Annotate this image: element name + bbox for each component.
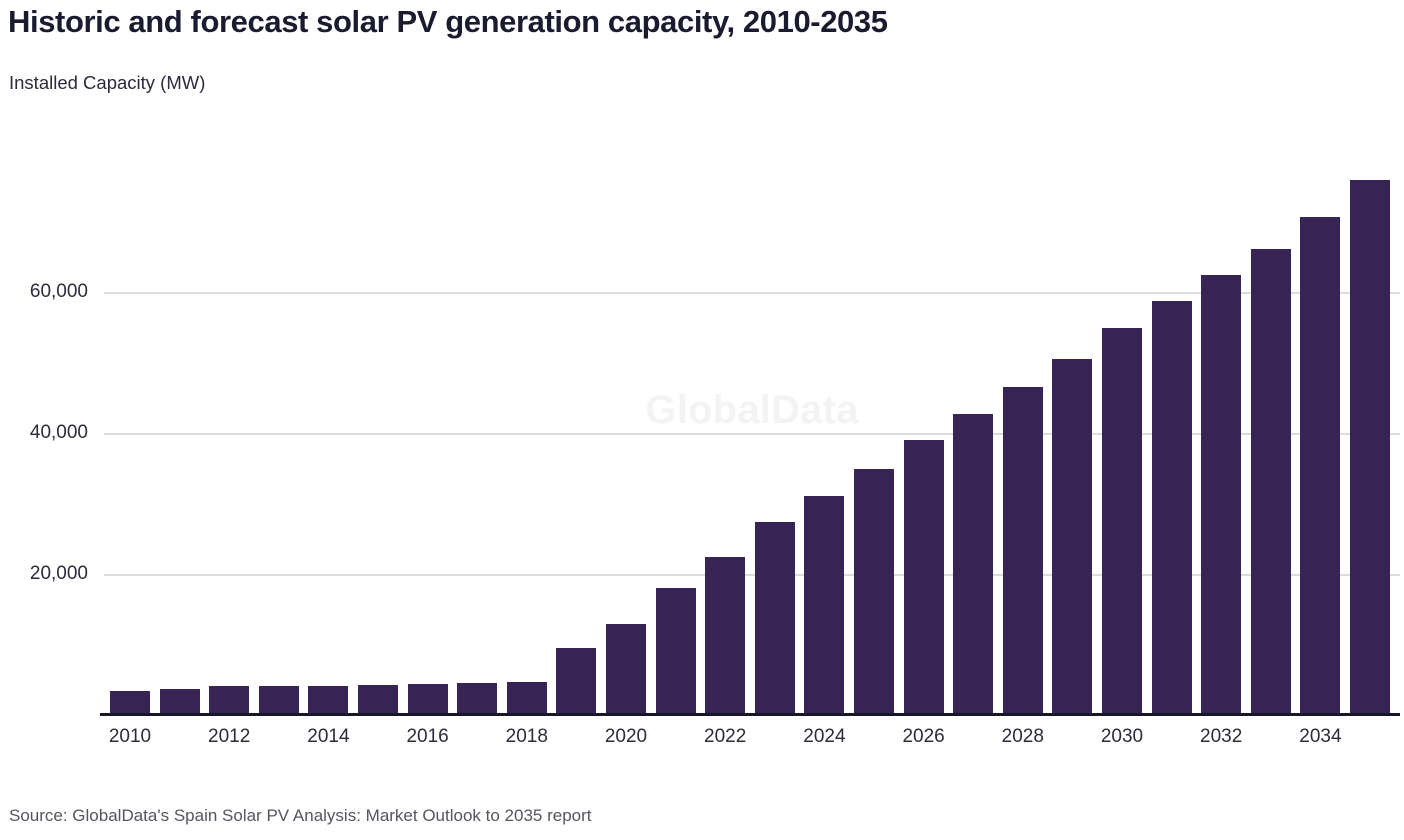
x-tick-label-2028: 2028 <box>1002 726 1044 748</box>
bar-2033[interactable] <box>1251 249 1291 716</box>
x-tick-label-2030: 2030 <box>1101 726 1143 748</box>
bar-2028[interactable] <box>1003 387 1043 716</box>
bar-2027[interactable] <box>953 414 993 716</box>
x-axis-line <box>100 713 1400 716</box>
chart-source: Source: GlobalData's Spain Solar PV Anal… <box>9 806 592 826</box>
x-axis-labels: 2010201220142016201820202022202420262028… <box>104 726 1404 760</box>
bar-2021[interactable] <box>656 588 696 716</box>
chart-title: Historic and forecast solar PV generatio… <box>8 4 888 40</box>
bar-2024[interactable] <box>804 496 844 716</box>
x-tick-label-2020: 2020 <box>605 726 647 748</box>
bar-2023[interactable] <box>755 522 795 716</box>
bar-2026[interactable] <box>904 440 944 716</box>
bar-2011[interactable] <box>160 689 200 716</box>
bar-2032[interactable] <box>1201 275 1241 716</box>
bar-2020[interactable] <box>606 624 646 716</box>
y-axis-labels: 20,00040,00060,000 <box>0 120 96 716</box>
bar-2019[interactable] <box>556 648 596 716</box>
bar-2018[interactable] <box>507 682 547 716</box>
bar-2012[interactable] <box>209 686 249 716</box>
y-tick-label-60000: 60,000 <box>30 281 88 303</box>
chart-subtitle: Installed Capacity (MW) <box>9 72 205 94</box>
bar-2022[interactable] <box>705 557 745 716</box>
x-tick-label-2032: 2032 <box>1200 726 1242 748</box>
bar-2015[interactable] <box>358 685 398 716</box>
y-tick-label-20000: 20,000 <box>30 563 88 585</box>
x-tick-label-2024: 2024 <box>803 726 845 748</box>
solar-pv-capacity-chart: Historic and forecast solar PV generatio… <box>0 0 1404 840</box>
x-tick-label-2016: 2016 <box>406 726 448 748</box>
bar-2013[interactable] <box>259 686 299 716</box>
plot-area: GlobalData <box>104 120 1400 716</box>
x-tick-label-2018: 2018 <box>506 726 548 748</box>
x-tick-label-2010: 2010 <box>109 726 151 748</box>
bar-2034[interactable] <box>1300 217 1340 716</box>
bar-2031[interactable] <box>1152 301 1192 716</box>
bar-2016[interactable] <box>408 684 448 716</box>
x-tick-label-2022: 2022 <box>704 726 746 748</box>
bar-2035[interactable] <box>1350 180 1390 716</box>
bar-2025[interactable] <box>854 469 894 716</box>
x-tick-label-2012: 2012 <box>208 726 250 748</box>
bar-2029[interactable] <box>1052 359 1092 716</box>
bar-2017[interactable] <box>457 683 497 716</box>
bar-2014[interactable] <box>308 686 348 716</box>
x-tick-label-2026: 2026 <box>902 726 944 748</box>
bars-layer <box>104 121 1400 716</box>
x-tick-label-2014: 2014 <box>307 726 349 748</box>
bar-2030[interactable] <box>1102 328 1142 716</box>
y-tick-label-40000: 40,000 <box>30 422 88 444</box>
x-tick-label-2034: 2034 <box>1299 726 1341 748</box>
